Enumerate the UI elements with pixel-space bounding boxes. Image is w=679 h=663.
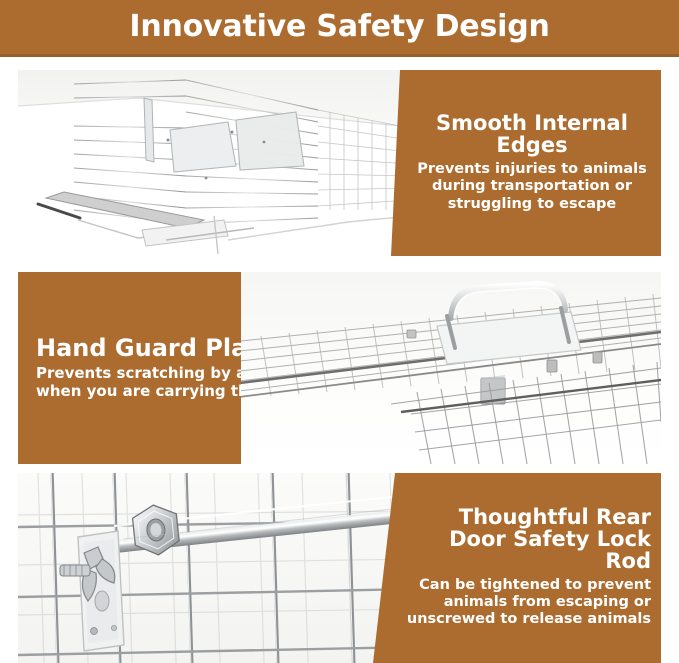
panel-1-text-block: Smooth Internal Edges Prevents injuries … xyxy=(391,70,661,256)
photo-safety-lock-rod xyxy=(18,473,418,663)
feature-panel-smooth-internal-edges: Smooth Internal Edges Prevents injuries … xyxy=(18,70,661,256)
panel-1-subline: Prevents injuries to animals during tran… xyxy=(413,161,651,213)
handle-guard-plate-illustration xyxy=(241,272,661,464)
infographic-page: Innovative Safety Design xyxy=(0,0,679,663)
page-title: Innovative Safety Design xyxy=(129,12,549,42)
panel-3-subline: Can be tightened to prevent animals from… xyxy=(403,577,651,629)
lock-rod-closeup-illustration xyxy=(18,473,418,663)
panel-3-headline: Thoughtful Rear Door Safety Lock Rod xyxy=(403,507,651,572)
page-header-banner: Innovative Safety Design xyxy=(0,0,679,57)
feature-panel-rear-door-safety-lock-rod: Thoughtful Rear Door Safety Lock Rod Can… xyxy=(18,473,661,663)
feature-panel-hand-guard-plate: Hand Guard Plate Prevents scratching by … xyxy=(18,272,661,464)
photo-wire-cage-interior xyxy=(18,70,418,256)
photo-hand-guard-plate xyxy=(241,272,661,464)
panel-3-text-block: Thoughtful Rear Door Safety Lock Rod Can… xyxy=(373,473,661,663)
cage-interior-illustration xyxy=(18,70,418,256)
panel-1-headline: Smooth Internal Edges xyxy=(413,113,651,157)
